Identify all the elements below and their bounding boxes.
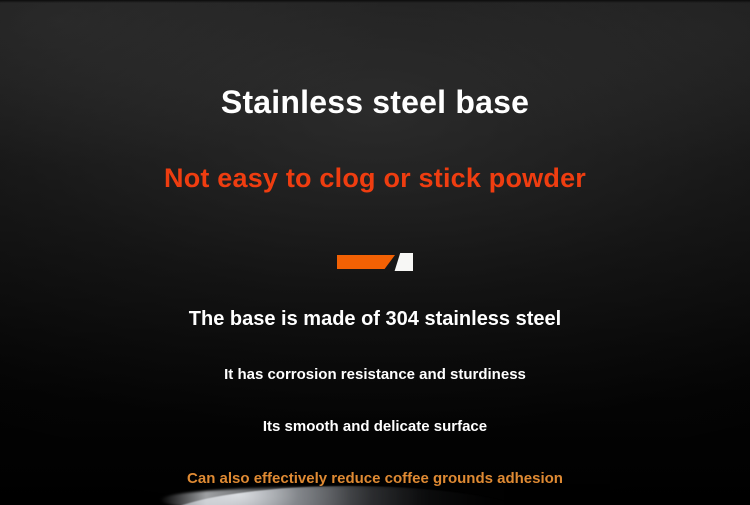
orange-slant-bar-icon (337, 255, 395, 269)
body-line-material: The base is made of 304 stainless steel (0, 308, 750, 331)
white-slant-chip-icon (393, 253, 413, 271)
body-line-surface: Its smooth and delicate surface (0, 418, 750, 435)
promo-banner: Stainless steel base Not easy to clog or… (0, 0, 750, 505)
section-divider (0, 253, 750, 271)
banner-content: Stainless steel base Not easy to clog or… (0, 0, 750, 505)
headline-primary: Stainless steel base (0, 84, 750, 121)
product-photo-fade (430, 484, 610, 505)
headline-secondary: Not easy to clog or stick powder (0, 163, 750, 194)
body-line-adhesion-highlight: Can also effectively reduce coffee groun… (0, 470, 750, 487)
divider-group (337, 253, 413, 271)
body-line-corrosion: It has corrosion resistance and sturdine… (0, 366, 750, 383)
